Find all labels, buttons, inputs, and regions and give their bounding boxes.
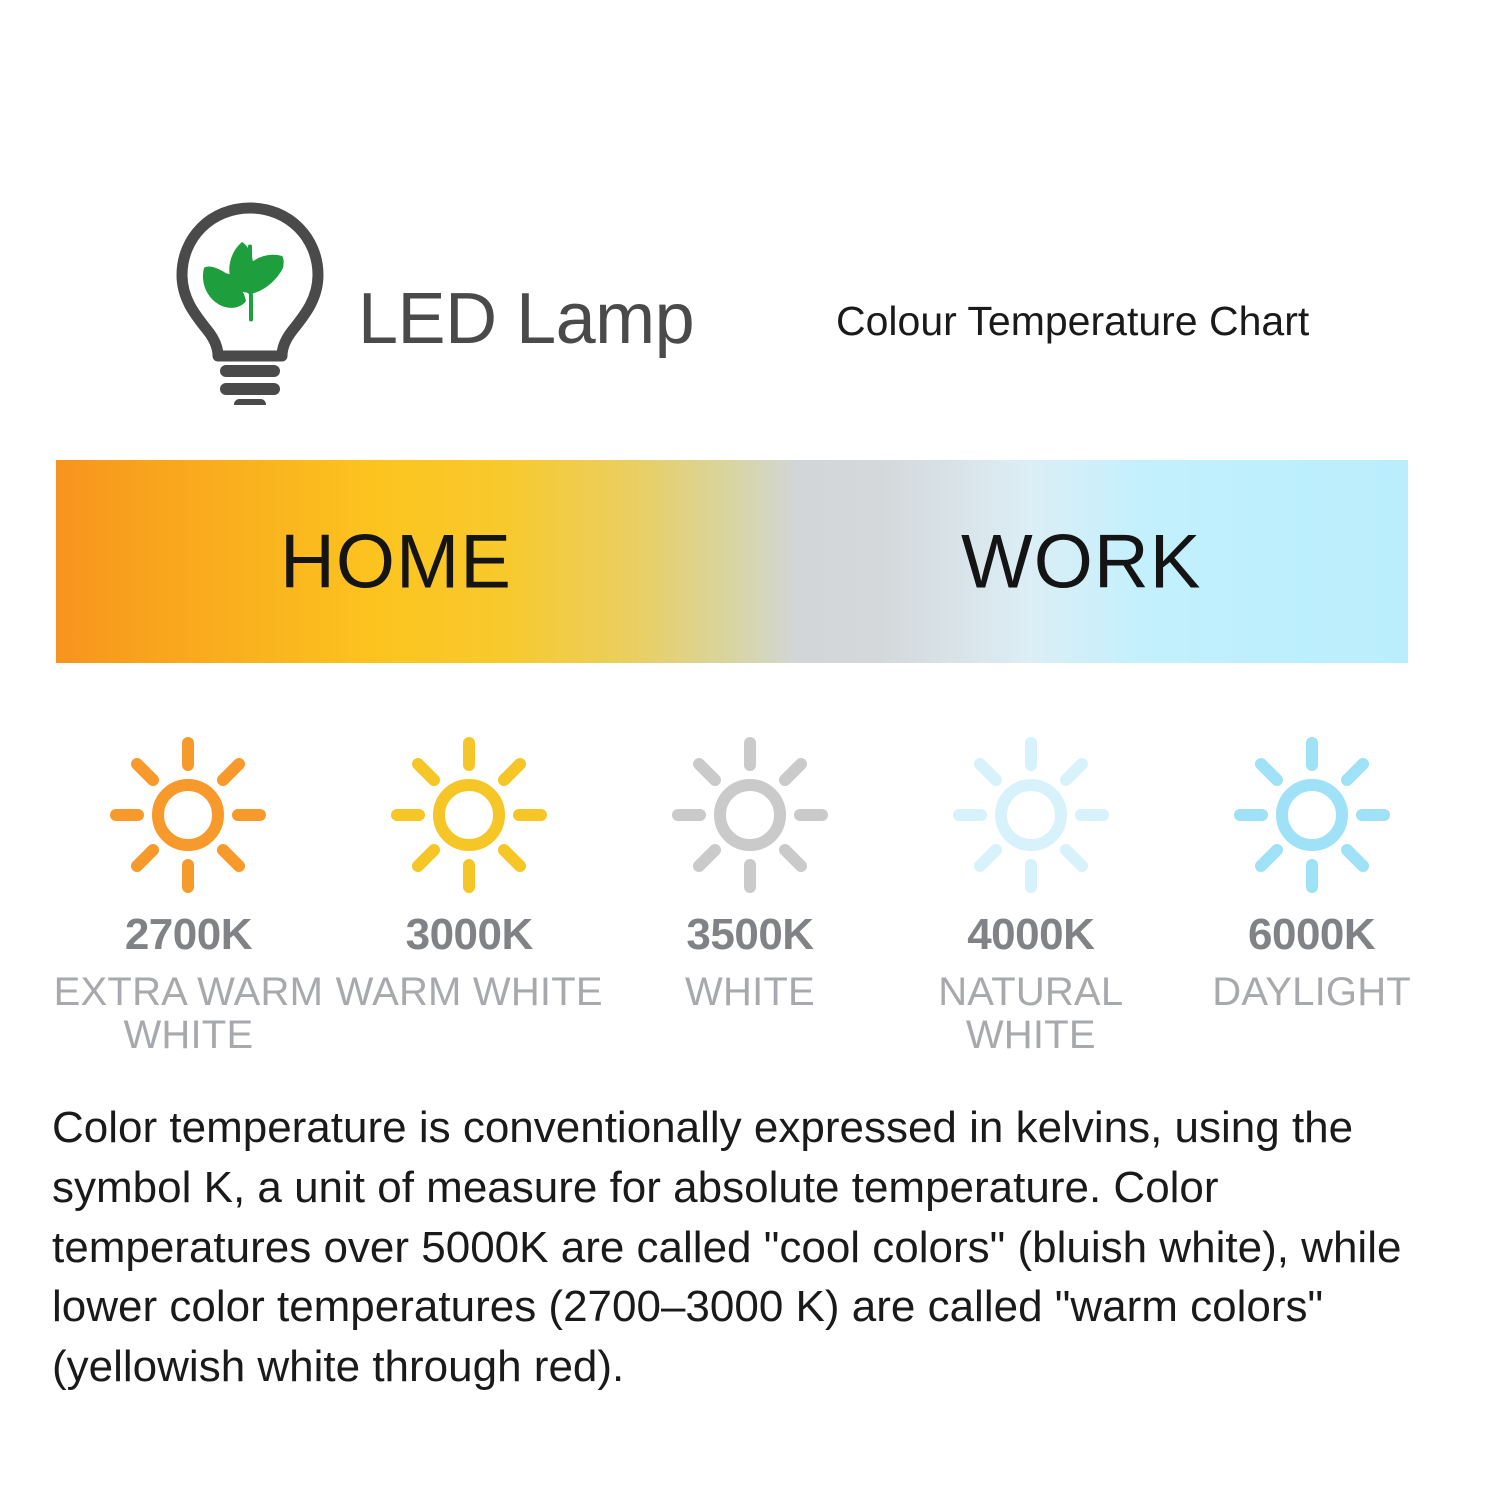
zone-label-work: WORK — [961, 518, 1201, 605]
description-paragraph: Color temperature is conventionally expr… — [52, 1098, 1452, 1397]
temperature-item-3000k: 3000K WARM WHITE — [329, 735, 610, 1057]
kelvin-value: 2700K — [125, 913, 252, 957]
zone-label-home: HOME — [280, 518, 512, 605]
sun-icon — [951, 735, 1111, 895]
sun-icon — [670, 735, 830, 895]
kelvin-description: NATURAL WHITE — [892, 971, 1170, 1057]
page-title: LED Lamp — [358, 278, 694, 360]
temperature-gradient-bar: HOME WORK — [56, 460, 1408, 663]
kelvin-value: 3500K — [686, 913, 813, 957]
sun-icon — [108, 735, 268, 895]
kelvin-description: DAYLIGHT — [1212, 971, 1411, 1014]
sun-icon — [389, 735, 549, 895]
infographic-page: LED Lamp Colour Temperature Chart HOME W… — [0, 0, 1500, 1500]
temperature-item-6000k: 6000K DAYLIGHT — [1171, 735, 1452, 1057]
sun-icon — [1232, 735, 1392, 895]
kelvin-value: 3000K — [406, 913, 533, 957]
temperature-item-2700k: 2700K EXTRA WARM WHITE — [48, 735, 329, 1057]
kelvin-description: EXTRA WARM WHITE — [49, 971, 327, 1057]
temperature-item-4000k: 4000K NATURAL WHITE — [890, 735, 1171, 1057]
header: LED Lamp Colour Temperature Chart — [0, 200, 1500, 420]
kelvin-value: 4000K — [967, 913, 1094, 957]
lightbulb-leaf-icon — [170, 200, 330, 405]
chart-subtitle: Colour Temperature Chart — [836, 298, 1309, 345]
kelvin-description: WARM WHITE — [336, 971, 603, 1014]
temperature-list: 2700K EXTRA WARM WHITE — [48, 735, 1452, 1057]
kelvin-description: WHITE — [685, 971, 815, 1014]
kelvin-value: 6000K — [1248, 913, 1375, 957]
temperature-item-3500k: 3500K WHITE — [610, 735, 891, 1057]
